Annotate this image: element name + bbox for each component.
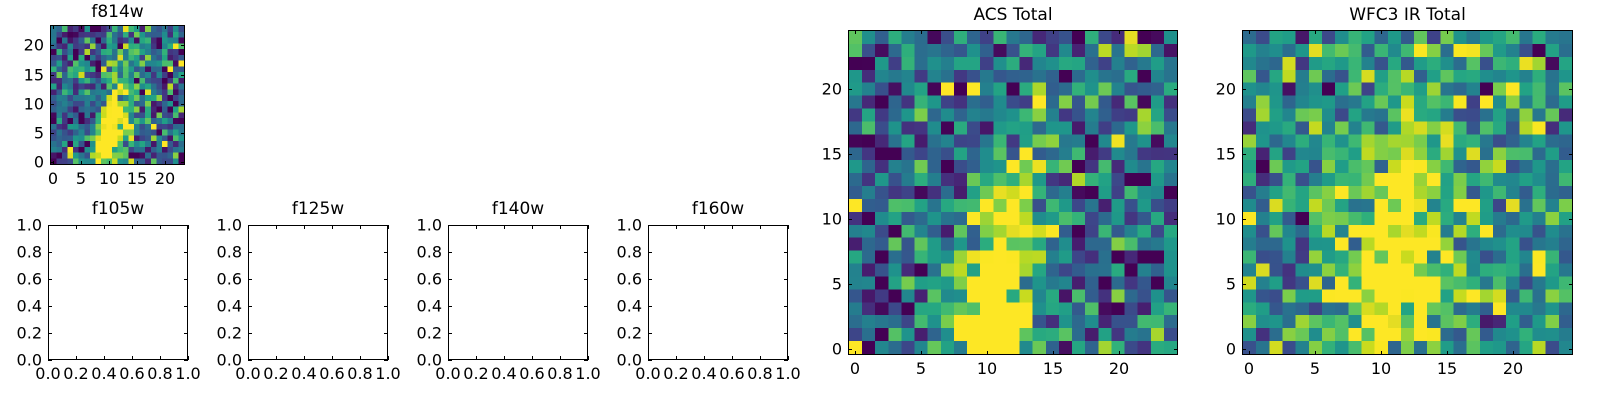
x-tick-top-wfc3-ir-total <box>1315 30 1316 34</box>
x-tick-label-wfc3-ir-total: 15 <box>1437 359 1457 378</box>
panel-wfc3-ir-total: WFC3 IR Total0510152005101520 <box>0 0 1600 400</box>
x-tick-wfc3-ir-total <box>1447 351 1448 355</box>
y-tick-wfc3-ir-total <box>1242 284 1246 285</box>
panel-title-wfc3-ir-total: WFC3 IR Total <box>1242 5 1573 25</box>
x-tick-label-wfc3-ir-total: 0 <box>1244 359 1254 378</box>
y-tick-right-wfc3-ir-total <box>1569 284 1573 285</box>
x-tick-wfc3-ir-total <box>1315 351 1316 355</box>
x-tick-wfc3-ir-total <box>1249 351 1250 355</box>
y-tick-label-wfc3-ir-total: 15 <box>1190 145 1236 164</box>
y-tick-label-wfc3-ir-total: 5 <box>1190 275 1236 294</box>
plot-area-wfc3-ir-total <box>1242 30 1573 355</box>
heatmap-image-wfc3-ir-total <box>1243 31 1572 354</box>
x-tick-top-wfc3-ir-total <box>1381 30 1382 34</box>
y-tick-wfc3-ir-total <box>1242 349 1246 350</box>
x-tick-top-wfc3-ir-total <box>1513 30 1514 34</box>
x-tick-label-wfc3-ir-total: 20 <box>1503 359 1523 378</box>
y-tick-right-wfc3-ir-total <box>1569 89 1573 90</box>
figure-canvas: f814w0510152005101520f105w0.00.20.40.60.… <box>0 0 1600 400</box>
x-tick-top-wfc3-ir-total <box>1447 30 1448 34</box>
y-tick-label-wfc3-ir-total: 10 <box>1190 210 1236 229</box>
x-tick-label-wfc3-ir-total: 5 <box>1310 359 1320 378</box>
y-tick-label-wfc3-ir-total: 20 <box>1190 80 1236 99</box>
y-tick-right-wfc3-ir-total <box>1569 349 1573 350</box>
y-tick-wfc3-ir-total <box>1242 89 1246 90</box>
x-tick-label-wfc3-ir-total: 10 <box>1371 359 1391 378</box>
y-tick-wfc3-ir-total <box>1242 219 1246 220</box>
x-tick-top-wfc3-ir-total <box>1249 30 1250 34</box>
y-tick-right-wfc3-ir-total <box>1569 219 1573 220</box>
x-tick-wfc3-ir-total <box>1381 351 1382 355</box>
y-tick-wfc3-ir-total <box>1242 154 1246 155</box>
y-tick-right-wfc3-ir-total <box>1569 154 1573 155</box>
x-tick-wfc3-ir-total <box>1513 351 1514 355</box>
y-tick-label-wfc3-ir-total: 0 <box>1190 340 1236 359</box>
